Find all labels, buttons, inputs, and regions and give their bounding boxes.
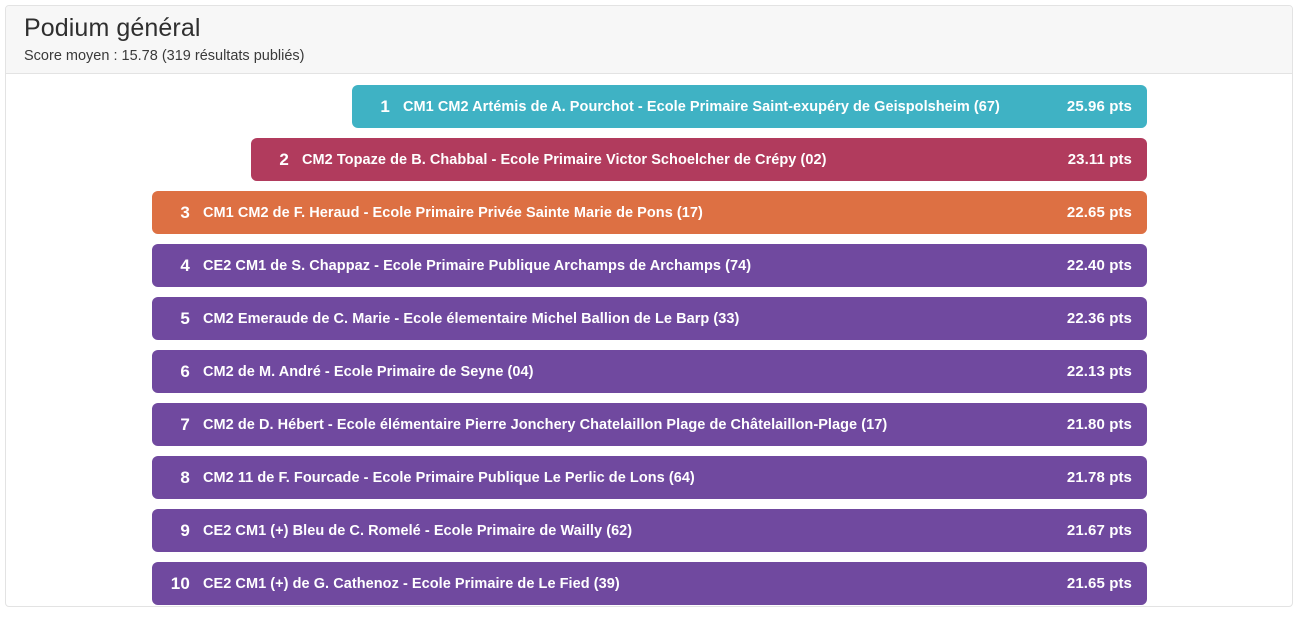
score-value: 21.67 pts [1067,522,1132,539]
entry-label: CE2 CM1 (+) Bleu de C. Romelé - Ecole Pr… [203,523,1053,539]
score-value: 21.65 pts [1067,575,1132,592]
podium-row: 5CM2 Emeraude de C. Marie - Ecole élemen… [6,297,1292,350]
podium-bar[interactable]: 3CM1 CM2 de F. Heraud - Ecole Primaire P… [152,191,1147,234]
podium-bar[interactable]: 2CM2 Topaze de B. Chabbal - Ecole Primai… [251,138,1147,181]
rank-number: 2 [265,150,289,170]
podium-row: 2CM2 Topaze de B. Chabbal - Ecole Primai… [6,138,1292,191]
score-value: 25.96 pts [1067,98,1132,115]
podium-bar[interactable]: 10CE2 CM1 (+) de G. Cathenoz - Ecole Pri… [152,562,1147,605]
page-title: Podium général [24,13,1292,44]
podium-bar[interactable]: 9CE2 CM1 (+) Bleu de C. Romelé - Ecole P… [152,509,1147,552]
rank-number: 5 [166,309,190,329]
rank-number: 6 [166,362,190,382]
podium-row: 7CM2 de D. Hébert - Ecole élémentaire Pi… [6,403,1292,456]
score-value: 22.65 pts [1067,204,1132,221]
podium-row: 6CM2 de M. André - Ecole Primaire de Sey… [6,350,1292,403]
entry-label: CM2 11 de F. Fourcade - Ecole Primaire P… [203,470,1053,486]
entry-label: CM2 de D. Hébert - Ecole élémentaire Pie… [203,417,1053,433]
score-value: 23.11 pts [1068,151,1132,168]
panel-header: Podium général Score moyen : 15.78 (319 … [6,6,1292,74]
rank-number: 7 [166,415,190,435]
podium-bar[interactable]: 8CM2 11 de F. Fourcade - Ecole Primaire … [152,456,1147,499]
entry-label: CM2 Topaze de B. Chabbal - Ecole Primair… [302,152,1054,168]
podium-panel: Podium général Score moyen : 15.78 (319 … [5,5,1293,607]
podium-row: 8CM2 11 de F. Fourcade - Ecole Primaire … [6,456,1292,509]
score-value: 22.36 pts [1067,310,1132,327]
podium-row: 9CE2 CM1 (+) Bleu de C. Romelé - Ecole P… [6,509,1292,562]
podium-ranking-list: 1CM1 CM2 Artémis de A. Pourchot - Ecole … [6,74,1292,607]
entry-label: CM1 CM2 Artémis de A. Pourchot - Ecole P… [403,99,1053,115]
podium-row: 10CE2 CM1 (+) de G. Cathenoz - Ecole Pri… [6,562,1292,607]
rank-number: 4 [166,256,190,276]
podium-bar[interactable]: 7CM2 de D. Hébert - Ecole élémentaire Pi… [152,403,1147,446]
entry-label: CE2 CM1 de S. Chappaz - Ecole Primaire P… [203,258,1053,274]
score-value: 22.40 pts [1067,257,1132,274]
podium-bar[interactable]: 4CE2 CM1 de S. Chappaz - Ecole Primaire … [152,244,1147,287]
podium-bar[interactable]: 1CM1 CM2 Artémis de A. Pourchot - Ecole … [352,85,1147,128]
rank-number: 9 [166,521,190,541]
entry-label: CM1 CM2 de F. Heraud - Ecole Primaire Pr… [203,205,1053,221]
rank-number: 10 [166,574,190,594]
entry-label: CM2 Emeraude de C. Marie - Ecole élement… [203,311,1053,327]
entry-label: CM2 de M. André - Ecole Primaire de Seyn… [203,364,1053,380]
rank-number: 1 [366,97,390,117]
podium-row: 3CM1 CM2 de F. Heraud - Ecole Primaire P… [6,191,1292,244]
score-value: 22.13 pts [1067,363,1132,380]
rank-number: 3 [166,203,190,223]
score-value: 21.80 pts [1067,416,1132,433]
podium-row: 4CE2 CM1 de S. Chappaz - Ecole Primaire … [6,244,1292,297]
entry-label: CE2 CM1 (+) de G. Cathenoz - Ecole Prima… [203,576,1053,592]
podium-bar[interactable]: 6CM2 de M. André - Ecole Primaire de Sey… [152,350,1147,393]
score-value: 21.78 pts [1067,469,1132,486]
podium-bar[interactable]: 5CM2 Emeraude de C. Marie - Ecole élemen… [152,297,1147,340]
rank-number: 8 [166,468,190,488]
podium-row: 1CM1 CM2 Artémis de A. Pourchot - Ecole … [6,85,1292,138]
average-score-summary: Score moyen : 15.78 (319 résultats publi… [24,46,1292,66]
